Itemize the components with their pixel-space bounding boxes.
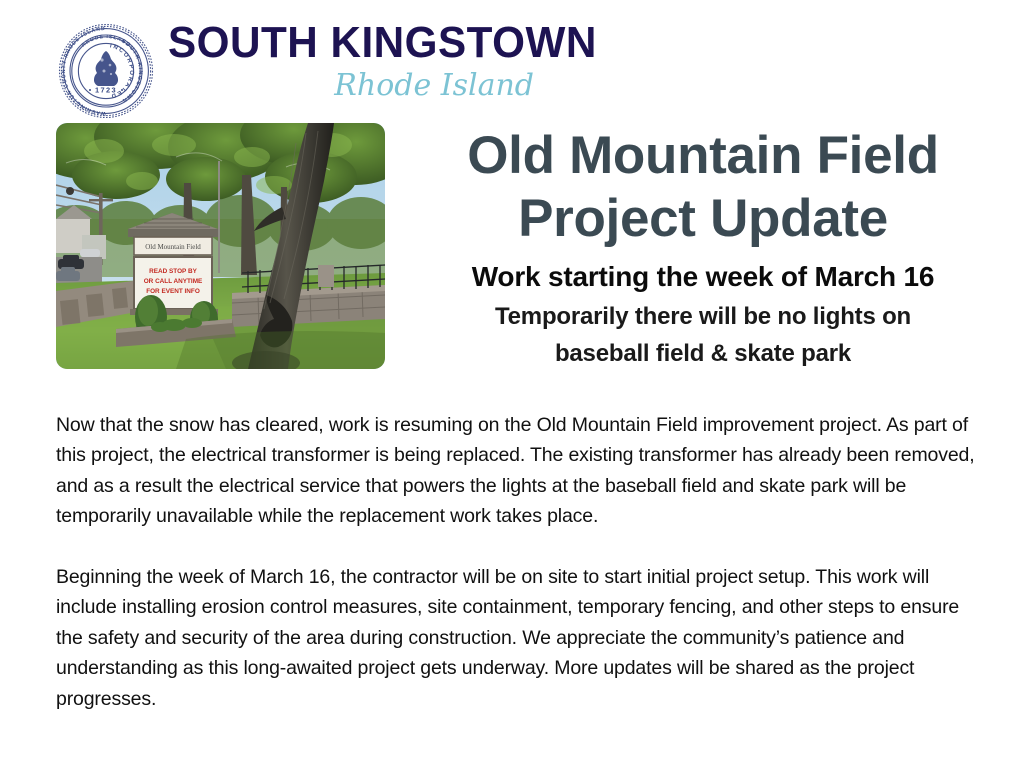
page-title-line-1: Old Mountain Field [398,124,1008,187]
svg-text:OR CALL ANYTIME: OR CALL ANYTIME [144,278,203,285]
svg-text:1723: 1723 [95,86,117,95]
body-paragraph-2: Beginning the week of March 16, the cont… [56,562,976,715]
svg-text:FOR EVENT INFO: FOR EVENT INFO [146,288,200,295]
town-wordmark: SOUTH KINGSTOWN Rhode Island [168,18,568,114]
page-header: WASHINGTON COUNTY RHODE ISLAND SOUTH KIN… [0,0,1024,118]
subtitle-no-lights-line-1: Temporarily there will be no lights on [398,301,1008,332]
park-photo-illustration: Old Mountain Field READ STOP BY OR CALL … [56,123,385,369]
body-paragraph-1: Now that the snow has cleared, work is r… [56,410,976,532]
page-title-line-2: Project Update [398,187,1008,250]
subtitle-start-date: Work starting the week of March 16 [398,259,1008,295]
svg-text:READ STOP BY: READ STOP BY [149,268,197,275]
seal-icon: WASHINGTON COUNTY RHODE ISLAND SOUTH KIN… [57,22,155,120]
wordmark-state-name: Rhode Island [168,66,568,106]
svg-text:Old Mountain Field: Old Mountain Field [145,243,201,251]
body-copy: Now that the snow has cleared, work is r… [56,390,976,734]
town-seal-logo: WASHINGTON COUNTY RHODE ISLAND SOUTH KIN… [57,22,155,120]
subtitle-no-lights-line-2: baseball field & skate park [398,338,1008,369]
old-mountain-field-photo: Old Mountain Field READ STOP BY OR CALL … [56,123,385,369]
wordmark-town-name: SOUTH KINGSTOWN [168,18,552,68]
headline-block: Old Mountain Field Project Update Work s… [398,124,1008,369]
